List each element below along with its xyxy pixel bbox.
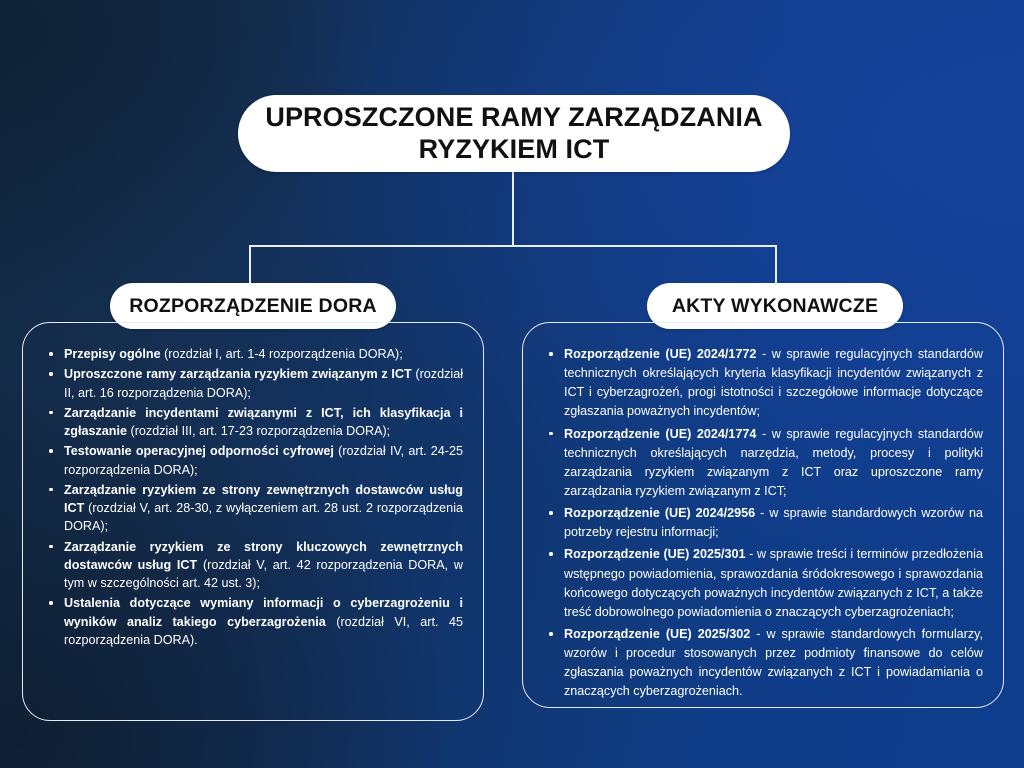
list-item-term: Przepisy ogólne [64, 347, 161, 361]
list-item-detail: (rozdział III, art. 17-23 rozporządzenia… [127, 424, 390, 438]
list-item-detail: (rozdział V, art. 28-30, z wyłączeniem a… [64, 501, 463, 533]
connector-trunk-vertical [512, 171, 514, 247]
list-item: Rozporządzenie (UE) 2025/301 - w sprawie… [543, 545, 983, 622]
panel-dora: Przepisy ogólne (rozdział I, art. 1-4 ro… [22, 322, 484, 721]
list-item-term: Rozporządzenie (UE) 2024/1774 [564, 427, 756, 441]
list-item-term: Testowanie operacyjnej odporności cyfrow… [64, 444, 334, 458]
list-item-detail: (rozdział I, art. 1-4 rozporządzenia DOR… [161, 347, 403, 361]
list-item-term: Rozporządzenie (UE) 2025/301 [564, 547, 746, 561]
list-item: Rozporządzenie (UE) 2024/1774 - w sprawi… [543, 425, 983, 502]
list-item-term: Rozporządzenie (UE) 2025/302 [564, 627, 750, 641]
list-item: Testowanie operacyjnej odporności cyfrow… [43, 442, 463, 479]
list-item: Uproszczone ramy zarządzania ryzykiem zw… [43, 365, 463, 402]
list-item: Zarządzanie incydentami związanymi z ICT… [43, 404, 463, 441]
list-item: Zarządzanie ryzykiem ze strony zewnętrzn… [43, 481, 463, 536]
connector-horizontal [249, 245, 777, 247]
list-item-term: Rozporządzenie (UE) 2024/1772 [564, 347, 756, 361]
list-item-term: Rozporządzenie (UE) 2024/2956 [564, 506, 755, 520]
list-item: Przepisy ogólne (rozdział I, art. 1-4 ro… [43, 345, 463, 363]
list-item: Zarządzanie ryzykiem ze strony kluczowyc… [43, 538, 463, 593]
slide-canvas: UPROSZCZONE RAMY ZARZĄDZANIA RYZYKIEM IC… [0, 0, 1024, 768]
list-item: Rozporządzenie (UE) 2024/2956 - w sprawi… [543, 504, 983, 542]
list-dora: Przepisy ogólne (rozdział I, art. 1-4 ro… [43, 345, 463, 649]
list-item-term: Uproszczone ramy zarządzania ryzykiem zw… [64, 367, 412, 381]
panel-akty-wykonawcze: Rozporządzenie (UE) 2024/1772 - w sprawi… [522, 322, 1004, 708]
diagram-title: UPROSZCZONE RAMY ZARZĄDZANIA RYZYKIEM IC… [238, 95, 790, 172]
list-item: Rozporządzenie (UE) 2025/302 - w sprawie… [543, 625, 983, 702]
list-item: Rozporządzenie (UE) 2024/1772 - w sprawi… [543, 345, 983, 422]
list-item: Ustalenia dotyczące wymiany informacji o… [43, 594, 463, 649]
list-akty-wykonawcze: Rozporządzenie (UE) 2024/1772 - w sprawi… [543, 345, 983, 702]
